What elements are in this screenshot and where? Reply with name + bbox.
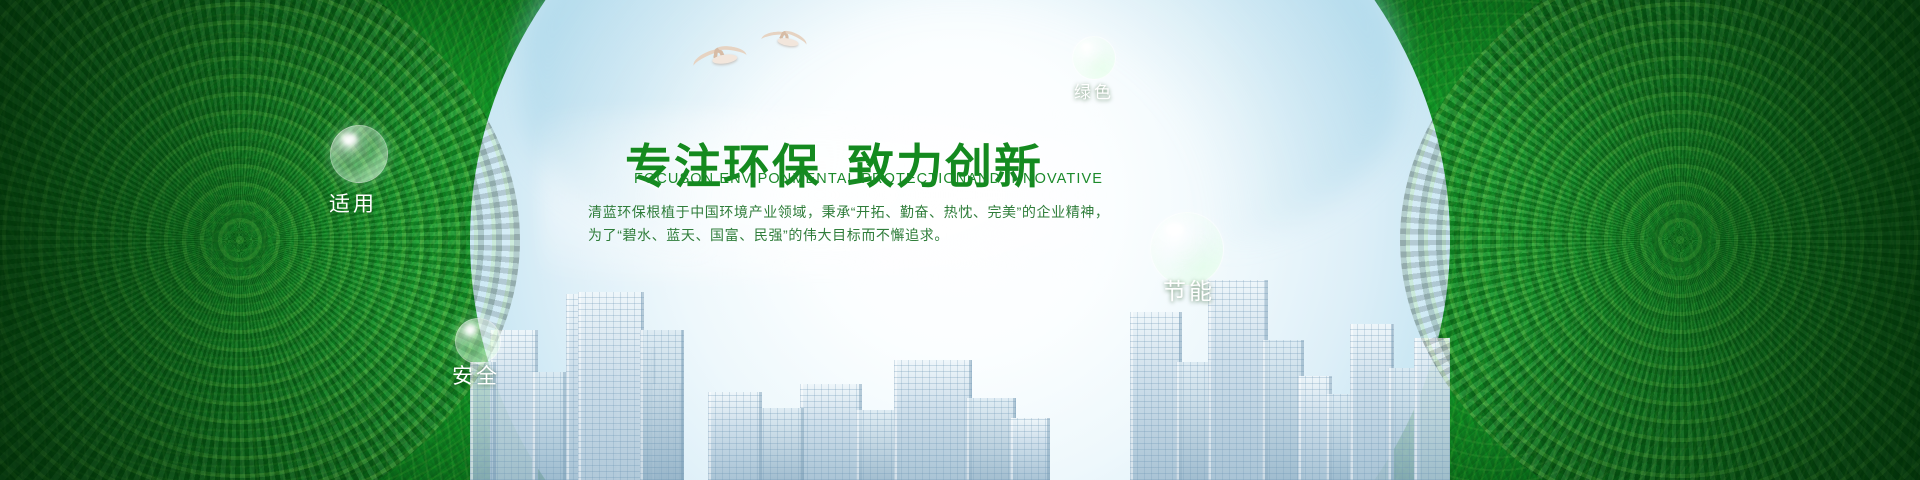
bubble-icon-anquan (455, 318, 501, 364)
canopy-shadow-right (1490, 0, 1920, 480)
bubble-label-jieneng: 节能 (1163, 272, 1215, 306)
body-text-line-1: 清蓝环保根植于中国环境产业领域，秉承“开拓、勤奋、热忱、完美”的企业精神， (588, 202, 1110, 222)
bubble-label-lvse: 绿色 (1074, 78, 1114, 103)
bubble-icon-lvse (1072, 36, 1116, 80)
canopy-shadow-left (0, 0, 430, 480)
body-text-line-2: 为了“碧水、蓝天、国富、民强”的伟大目标而不懈追求。 (588, 225, 949, 245)
hero-banner: 专注环保致力创新 FOCUSON ENVIPONMENTAL PROTECTIO… (0, 0, 1920, 480)
bubble-label-shiyong: 适用 (329, 188, 377, 218)
bubble-label-anquan: 安全 (452, 360, 500, 390)
bubble-icon-shiyong (330, 125, 388, 183)
subtitle: FOCUSON ENVIPONMENTAL PROTECTIONAND INNO… (634, 171, 1103, 187)
